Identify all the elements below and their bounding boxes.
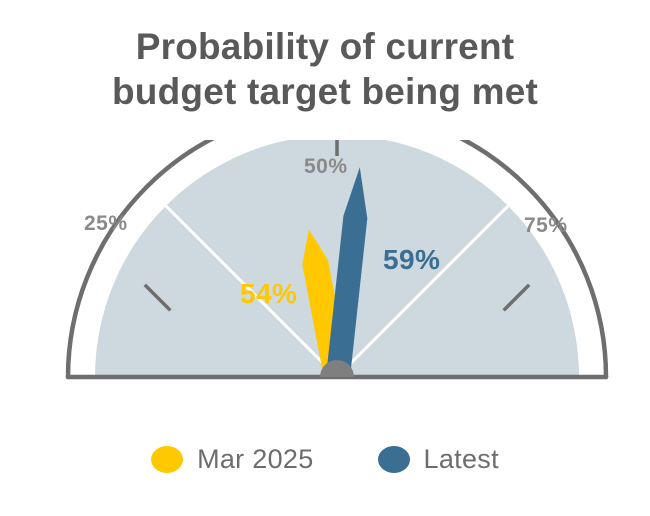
circle-marker-icon xyxy=(378,446,410,473)
legend-label-mar-2025: Mar 2025 xyxy=(197,444,313,475)
gauge-graphic xyxy=(0,140,650,400)
legend-item-latest[interactable]: Latest xyxy=(378,444,499,475)
gauge-chart: Probability of current budget target bei… xyxy=(0,0,650,516)
tick-label-50: 50% xyxy=(304,155,348,179)
value-label-mar-2025: 54% xyxy=(240,278,297,310)
chart-title-line-1: Probability of current xyxy=(0,24,650,69)
gauge-svg xyxy=(0,140,650,400)
tick-label-75: 75% xyxy=(524,214,568,238)
value-label-latest: 59% xyxy=(383,244,440,276)
legend-label-latest: Latest xyxy=(424,444,499,475)
chart-title: Probability of current budget target bei… xyxy=(0,24,650,114)
circle-marker-icon xyxy=(151,446,183,473)
legend-item-mar-2025[interactable]: Mar 2025 xyxy=(151,444,313,475)
chart-title-line-2: budget target being met xyxy=(0,69,650,114)
chart-legend: Mar 2025 Latest xyxy=(0,444,650,475)
tick-label-25: 25% xyxy=(84,212,128,236)
